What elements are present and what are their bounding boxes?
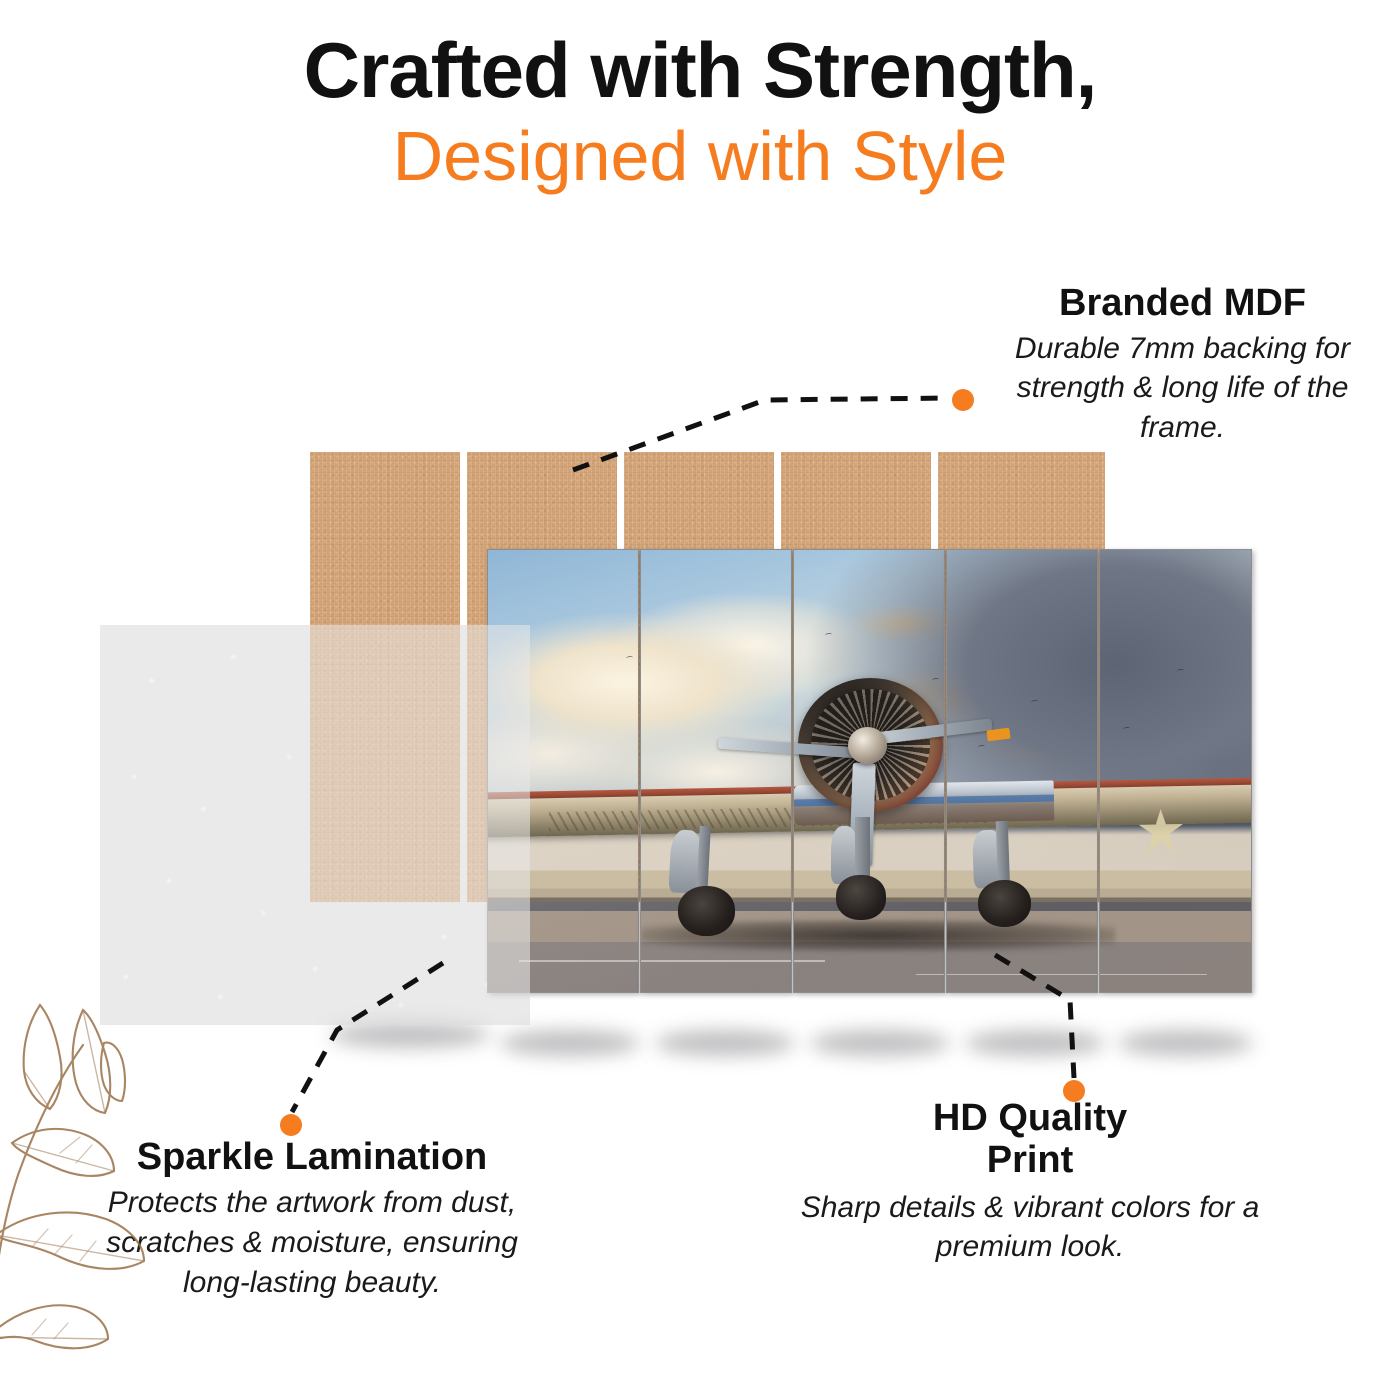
art-panel[interactable] (793, 549, 945, 993)
art-panel[interactable] (487, 549, 639, 993)
headline-line-2: Designed with Style (0, 116, 1400, 197)
artwork-scene (488, 549, 639, 993)
art-panel[interactable] (1099, 549, 1252, 993)
artwork-panel-group (487, 549, 1252, 993)
callout-branded-mdf: Branded MDF Durable 7mm backing for stre… (975, 282, 1390, 447)
frame-shadow (965, 1030, 1105, 1056)
frame-shadow (500, 1030, 640, 1056)
mdf-panel (310, 452, 460, 902)
frame-shadow (1118, 1030, 1253, 1056)
callout-title-line-1: HD Quality (800, 1098, 1260, 1140)
botanical-leaf-decoration (0, 985, 198, 1400)
callout-title: Branded MDF (975, 282, 1390, 325)
page-title: Crafted with Strength, Designed with Sty… (0, 30, 1400, 196)
frame-shadow (810, 1030, 950, 1056)
callout-hd-quality-print: HD Quality Print Sharp details & vibrant… (800, 1098, 1260, 1267)
headline-line-1: Crafted with Strength, (0, 30, 1400, 112)
callout-body: Sharp details & vibrant colors for a pre… (800, 1188, 1260, 1267)
frame-shadow (330, 1022, 490, 1048)
art-panel[interactable] (946, 549, 1098, 993)
callout-body: Durable 7mm backing for strength & long … (975, 329, 1390, 448)
art-panel[interactable] (640, 549, 792, 993)
frame-shadow (655, 1030, 795, 1056)
callout-dot-sparkle (280, 1114, 302, 1136)
callout-title-line-2: Print (800, 1140, 1260, 1182)
callout-dot-hd (1063, 1080, 1085, 1102)
callout-dot-mdf (952, 389, 974, 411)
